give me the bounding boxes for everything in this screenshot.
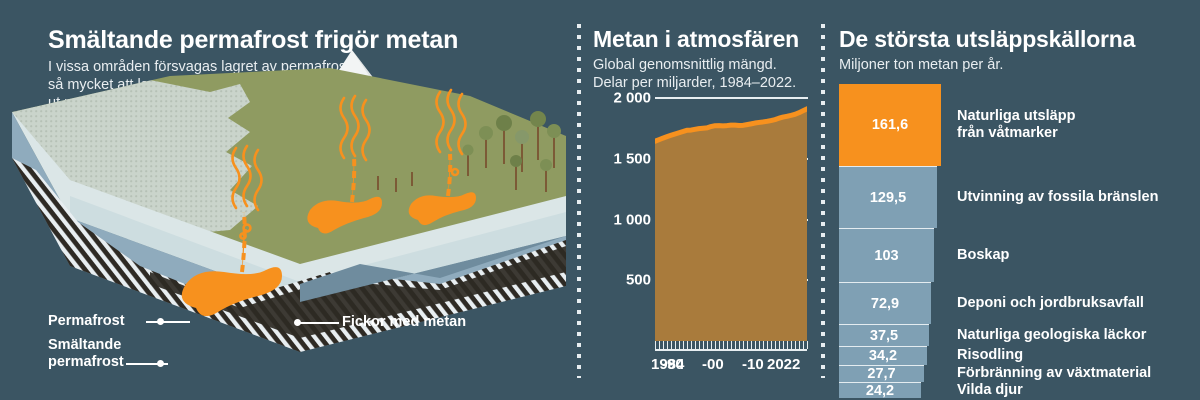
bar-row: 24,2Vilda djur (839, 382, 1199, 398)
x-axis-tick (763, 341, 764, 349)
x-axis-tick (675, 341, 676, 349)
bar-row: 161,6Naturliga utsläppfrån våtmarker (839, 84, 1199, 166)
x-axis-tick (699, 341, 700, 349)
x-axis-tick (767, 341, 768, 349)
bar-category-line-1: Naturliga utsläpp (957, 108, 1075, 124)
bar-category-line-1: Deponi och jordbruksavfall (957, 295, 1144, 311)
emission-bar[interactable]: 72,9 (839, 282, 931, 324)
bar-value-label: 37,5 (870, 328, 898, 344)
bar-category-line-1: Vilda djur (957, 382, 1023, 398)
mid-panel-title: Metan i atmosfären (593, 26, 799, 53)
panel-permafrost-illustration: Smältande permafrost frigör metan I viss… (0, 0, 566, 400)
bar-category-line-1: Naturliga geologiska läckor (957, 327, 1146, 343)
y-axis-tick-label: 1 000 (613, 211, 651, 228)
bar-value-label: 161,6 (872, 117, 908, 133)
x-axis-tick (743, 341, 744, 349)
x-axis-tick-label: -00 (702, 356, 724, 373)
x-axis-tick (759, 341, 760, 349)
x-axis-tick (667, 341, 668, 349)
x-axis-tick (791, 341, 792, 349)
bar-category-line-1: Risodling (957, 347, 1023, 363)
bar-category-line-1: Förbränning av växtmaterial (957, 365, 1151, 381)
emission-bar[interactable]: 103 (839, 228, 934, 282)
callout-melting-permafrost-dot (157, 360, 164, 367)
emission-bar[interactable]: 37,5 (839, 324, 929, 346)
infographic-root: Smältande permafrost frigör metan I viss… (0, 0, 1200, 400)
right-panel-subtitle: Miljoner ton metan per år. (839, 56, 1003, 74)
bar-value-label: 129,5 (870, 190, 906, 206)
emission-bar[interactable]: 27,7 (839, 365, 924, 382)
x-axis-tick (715, 341, 716, 349)
x-axis-tick (727, 341, 728, 349)
bar-category-line-2: från våtmarker (957, 125, 1058, 141)
x-axis-tick (695, 341, 696, 349)
x-axis-tick (731, 341, 732, 349)
x-axis-tick (679, 341, 680, 349)
x-axis-tick (663, 341, 664, 349)
bar-category-label: Utvinning av fossila bränslen (957, 189, 1158, 206)
x-axis-tick (723, 341, 724, 349)
x-axis-tick (683, 341, 684, 349)
x-axis-tick (783, 341, 784, 349)
x-axis-tick (755, 341, 756, 349)
x-axis-tick (655, 341, 656, 349)
emission-sources-bar-chart: 161,6Naturliga utsläppfrån våtmarker129,… (839, 84, 1199, 398)
methane-area-chart: 2 0001 5001 000500 1984-90-00-102022 (593, 98, 808, 368)
bar-category-line-1: Utvinning av fossila bränslen (957, 189, 1158, 205)
bar-value-label: 72,9 (871, 296, 899, 312)
bar-row: 129,5Utvinning av fossila bränslen (839, 166, 1199, 228)
x-axis-tick (795, 341, 796, 349)
x-axis-tick (691, 341, 692, 349)
bar-value-label: 24,2 (866, 383, 894, 399)
x-axis-tick-label: -10 (742, 356, 764, 373)
y-axis-tick-label: 500 (626, 272, 651, 289)
x-axis-tick (659, 341, 660, 349)
callout-melting-permafrost-label: Smältande permafrost (48, 337, 124, 371)
bar-row: 72,9Deponi och jordbruksavfall (839, 282, 1199, 324)
panel-emission-sources: De största utsläppskällorna Miljoner ton… (823, 0, 1200, 400)
x-axis-tick (739, 341, 740, 349)
mid-subtitle-line-1: Global genomsnittlig mängd. (593, 56, 823, 74)
x-axis-tick (671, 341, 672, 349)
bar-category-label: Risodling (957, 347, 1023, 364)
x-axis-tick (735, 341, 736, 349)
y-axis-tick-label: 2 000 (613, 90, 651, 107)
mid-panel-subtitle: Global genomsnittlig mängd. Delar per mi… (593, 56, 823, 92)
x-axis-tick (707, 341, 708, 349)
x-axis-tick (719, 341, 720, 349)
x-axis-tick (703, 341, 704, 349)
bar-category-label: Förbränning av växtmaterial (957, 365, 1151, 382)
bar-row: 37,5Naturliga geologiska läckor (839, 324, 1199, 346)
x-axis-tick (711, 341, 712, 349)
bar-category-label: Naturliga geologiska läckor (957, 327, 1146, 344)
emission-bar[interactable]: 129,5 (839, 166, 937, 228)
x-axis-tick-label: 2022 (767, 356, 800, 373)
callout-melting-permafrost-line-2: permafrost (48, 354, 124, 370)
x-axis-tick (751, 341, 752, 349)
x-axis-tick (771, 341, 772, 349)
bar-category-label: Vilda djur (957, 382, 1023, 399)
x-axis-tick (807, 341, 808, 349)
bar-value-label: 103 (874, 248, 898, 264)
right-panel-title: De största utsläppskällorna (839, 26, 1135, 53)
panel-methane-atmosphere: Metan i atmosfären Global genomsnittlig … (566, 0, 823, 400)
x-axis-baseline (655, 349, 807, 351)
x-axis-ticks (655, 341, 807, 353)
bar-row: 27,7Förbränning av växtmaterial (839, 365, 1199, 382)
callout-permafrost-line (146, 321, 190, 323)
emission-bar[interactable]: 34,2 (839, 346, 927, 365)
emission-bar[interactable]: 161,6 (839, 84, 941, 166)
bar-category-label: Boskap (957, 247, 1009, 264)
callout-permafrost-dot (157, 318, 164, 325)
x-axis-tick (779, 341, 780, 349)
callout-melting-permafrost-line-1: Smältande (48, 337, 121, 353)
x-axis-tick (803, 341, 804, 349)
emission-bar[interactable]: 24,2 (839, 382, 921, 398)
bar-category-line-1: Boskap (957, 247, 1009, 263)
callout-methane-pockets-dot (294, 319, 301, 326)
x-axis-tick (787, 341, 788, 349)
bar-category-label: Naturliga utsläppfrån våtmarker (957, 108, 1075, 142)
bar-value-label: 27,7 (867, 366, 895, 382)
callout-permafrost-label: Permafrost (48, 313, 125, 330)
bar-row: 34,2Risodling (839, 346, 1199, 365)
callout-methane-pockets-label: Fickor med metan (342, 314, 466, 331)
area-series (655, 98, 807, 341)
bar-value-label: 34,2 (869, 348, 897, 364)
bar-row: 103Boskap (839, 228, 1199, 282)
callout-methane-pockets-line (297, 322, 339, 324)
x-axis-tick (775, 341, 776, 349)
x-axis-tick (799, 341, 800, 349)
y-axis-tick-label: 1 500 (613, 150, 651, 167)
bar-category-label: Deponi och jordbruksavfall (957, 295, 1144, 312)
x-axis-tick (687, 341, 688, 349)
x-axis-tick-label: -90 (662, 356, 684, 373)
x-axis-tick (747, 341, 748, 349)
